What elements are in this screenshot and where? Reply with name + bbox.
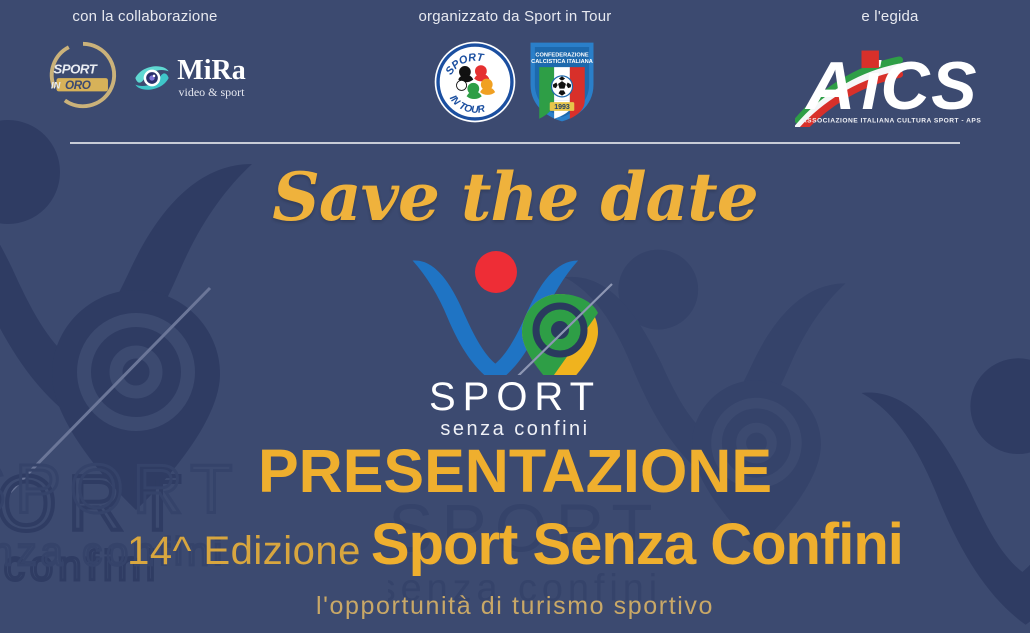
event-name: Sport Senza Confini bbox=[371, 512, 903, 577]
svg-text:A: A bbox=[804, 48, 855, 124]
event-title-row: 14^ EdizioneSport Senza Confini bbox=[0, 516, 1030, 574]
aics-logo: A i C S ASSOCIAZIONE ITALIANA CULTURA SP… bbox=[795, 39, 985, 132]
mira-logo: MiRa video & sport bbox=[132, 57, 245, 98]
save-the-date-heading: Save the date bbox=[0, 158, 1030, 236]
svg-text:S: S bbox=[931, 48, 976, 124]
page-title: PRESENTAZIONE bbox=[0, 441, 1030, 502]
mira-eye-icon bbox=[132, 58, 172, 98]
logo-wordmark-secondary: senza confini bbox=[400, 419, 630, 439]
header-label-collaboration: con la collaborazione bbox=[20, 8, 270, 25]
svg-text:ORO: ORO bbox=[65, 79, 91, 92]
logo-head-dot bbox=[475, 251, 517, 293]
sport-senza-confini-wordmark: SPORT senza confini bbox=[400, 377, 630, 439]
sport-senza-confini-logo: SPORT senza confini bbox=[400, 250, 630, 439]
poster-canvas: SPORT senza confini SPORT senza confini bbox=[0, 0, 1030, 633]
mira-wordmark: MiRa bbox=[177, 57, 245, 85]
confederazione-calcistica-italiana-logo: CONFEDERAZIONE CALCISTICA ITALIANA bbox=[527, 39, 597, 130]
header-logos-organizer: SPORT IN TOUR CONFEDERAZIONE CALCI bbox=[385, 39, 645, 130]
sport-senza-confini-mark bbox=[400, 250, 630, 375]
header-column-organizer: organizzato da Sport in Tour bbox=[385, 8, 645, 130]
svg-text:1993: 1993 bbox=[554, 104, 570, 111]
svg-text:ASSOCIAZIONE ITALIANA CULTURA: ASSOCIAZIONE ITALIANA CULTURA SPORT - AP… bbox=[802, 118, 981, 125]
header-label-organizer: organizzato da Sport in Tour bbox=[385, 8, 645, 25]
header-divider bbox=[70, 142, 960, 144]
svg-text:C: C bbox=[881, 48, 931, 124]
page-subtitle: l'opportunità di turismo sportivo bbox=[0, 592, 1030, 621]
mira-tagline: video & sport bbox=[177, 86, 245, 98]
svg-text:CALCISTICA ITALIANA: CALCISTICA ITALIANA bbox=[531, 59, 593, 65]
header: con la collaborazione SPORT IN ORO bbox=[0, 0, 1030, 145]
svg-text:SPORT: SPORT bbox=[54, 61, 99, 76]
sport-in-tour-logo: SPORT IN TOUR bbox=[433, 40, 517, 129]
header-logos-egida: A i C S ASSOCIAZIONE ITALIANA CULTURA SP… bbox=[770, 39, 1010, 132]
edition-label: 14^ Edizione bbox=[127, 529, 361, 573]
svg-text:IN: IN bbox=[51, 80, 61, 90]
header-column-collaboration: con la collaborazione SPORT IN ORO bbox=[20, 8, 270, 116]
header-logos-collaboration: SPORT IN ORO bbox=[20, 39, 270, 116]
logo-wordmark-primary: SPORT bbox=[400, 377, 630, 417]
header-label-egida: e l'egida bbox=[770, 8, 1010, 25]
svg-text:CONFEDERAZIONE: CONFEDERAZIONE bbox=[535, 53, 588, 59]
sport-in-oro-logo: SPORT IN ORO bbox=[44, 39, 122, 116]
header-column-egida: e l'egida A i C S bbox=[770, 8, 1010, 132]
